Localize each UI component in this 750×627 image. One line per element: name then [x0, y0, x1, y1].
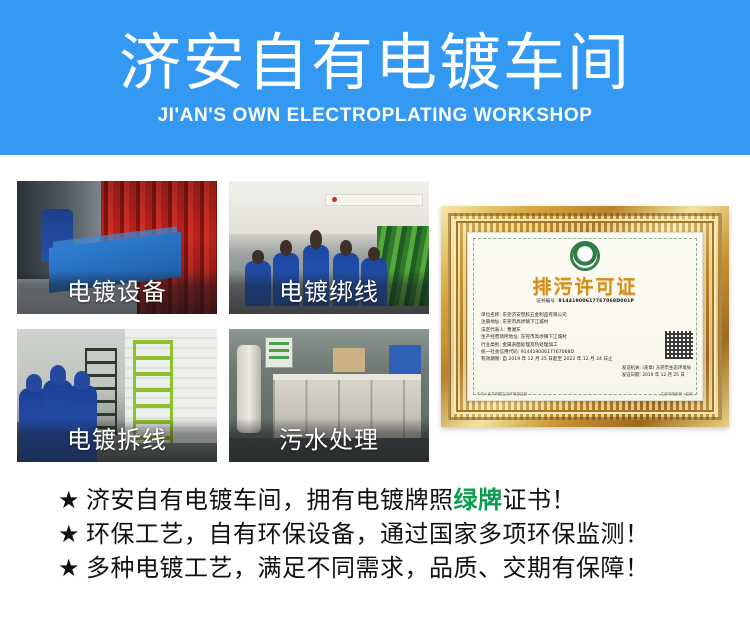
photo-detail-control-panel	[265, 337, 293, 368]
certificate[interactable]: 排污许可证 证书编号: 91441900617767068D001P 单位名称:…	[441, 206, 729, 427]
feature-list-item: ★多种电镀工艺，满足不同需求，品质、交期有保障！	[58, 551, 718, 585]
certificate-field: 行业类别: 金属表面处理及热处理加工	[481, 342, 691, 349]
header-banner: 济安自有电镀车间 JI'AN'S OWN ELECTROPLATING WORK…	[0, 0, 750, 155]
certificate-microtext: 中华人民共和国生态环境部监制 生态环境部统一监制	[477, 392, 693, 397]
gallery-tile-caption: 电镀设备	[17, 270, 217, 314]
photo-detail-wall-banner	[325, 194, 423, 205]
certificate-paper: 排污许可证 证书编号: 91441900617767068D001P 单位名称:…	[467, 232, 703, 401]
certificate-title: 排污许可证	[467, 272, 703, 299]
feature-text-pre: 多种电镀工艺，满足不同需求，品质、交期有保障！	[86, 554, 650, 582]
certificate-field: 法定代表人: 曹湘东	[481, 327, 691, 334]
star-icon: ★	[58, 520, 80, 548]
certificate-field: 统一社会信用代码: 91441900617767068D	[481, 349, 691, 356]
gallery-tile-caption: 电镀拆线	[17, 418, 217, 462]
eco-ministry-emblem-icon	[570, 241, 600, 271]
certificate-field: 有效期限: 自 2019 年 12 月 25 日起至 2022 年 12 月 2…	[481, 356, 691, 363]
feature-list-item: ★环保工艺，自有环保设备，通过国家多项环保监测！	[58, 517, 718, 551]
certificate-field: 单位名称: 东莞济安塑胶五金制品有限公司	[481, 312, 691, 319]
feature-text-pre: 环保工艺，自有环保设备，通过国家多项环保监测！	[86, 520, 650, 548]
certificate-number-row: 证书编号: 91441900617767068D001P	[467, 298, 703, 304]
certificate-footer: 发证机关: (盖章) 东莞市生态环境局 发证日期: 2019 年 12 月 25…	[622, 365, 691, 379]
feature-text-post: 证书！	[503, 486, 577, 514]
gallery-tile-caption: 污水处理	[229, 418, 429, 462]
page-subtitle: JI'AN'S OWN ELECTROPLATING WORKSHOP	[0, 104, 750, 128]
feature-text-highlight: 绿牌	[454, 486, 503, 514]
photo-detail-carton	[333, 348, 365, 372]
certificate-number-label: 证书编号:	[536, 299, 557, 304]
star-icon: ★	[58, 486, 80, 514]
gallery-tile-wastewater-treatment[interactable]: 污水处理	[229, 329, 429, 462]
photo-detail-worker	[41, 209, 73, 262]
certificate-number-value: 91441900617767068D001P	[559, 299, 635, 304]
certificate-frame: 排污许可证 证书编号: 91441900617767068D001P 单位名称:…	[441, 206, 729, 427]
certificate-issuer: 发证机关: (盖章) 东莞市生态环境局	[622, 365, 691, 372]
qr-code-icon	[665, 331, 693, 359]
page-title: 济安自有电镀车间	[0, 30, 750, 96]
certificate-issue-date: 发证日期: 2019 年 12 月 25 日	[622, 372, 691, 379]
gallery-tile-plating-equipment[interactable]: 电镀设备	[17, 181, 217, 314]
feature-list-item: ★济安自有电镀车间，拥有电镀牌照绿牌证书！	[58, 483, 718, 517]
certificate-field: 注册地址: 东莞市高埗镇下江城村	[481, 319, 691, 326]
feature-text-pre: 济安自有电镀车间，拥有电镀牌照	[86, 486, 454, 514]
gallery-tile-plating-unwiring[interactable]: 电镀拆线	[17, 329, 217, 462]
certificate-field: 生产经营场所地址: 东莞市高埗镇下江城村	[481, 334, 691, 341]
gallery-tile-caption: 电镀绑线	[229, 270, 429, 314]
certificate-microtext-left: 中华人民共和国生态环境部监制	[477, 392, 527, 397]
star-icon: ★	[58, 554, 80, 582]
feature-list: ★济安自有电镀车间，拥有电镀牌照绿牌证书！ ★环保工艺，自有环保设备，通过国家多…	[58, 483, 718, 585]
promo-page: 济安自有电镀车间 JI'AN'S OWN ELECTROPLATING WORK…	[0, 0, 750, 627]
certificate-microtext-right: 生态环境部统一监制	[661, 392, 693, 397]
gallery-tile-plating-wiring[interactable]: 电镀绑线	[229, 181, 429, 314]
certificate-fields: 单位名称: 东莞济安塑胶五金制品有限公司 注册地址: 东莞市高埗镇下江城村 法定…	[481, 312, 691, 364]
photo-gallery: 电镀设备 电镀绑线	[17, 181, 429, 462]
